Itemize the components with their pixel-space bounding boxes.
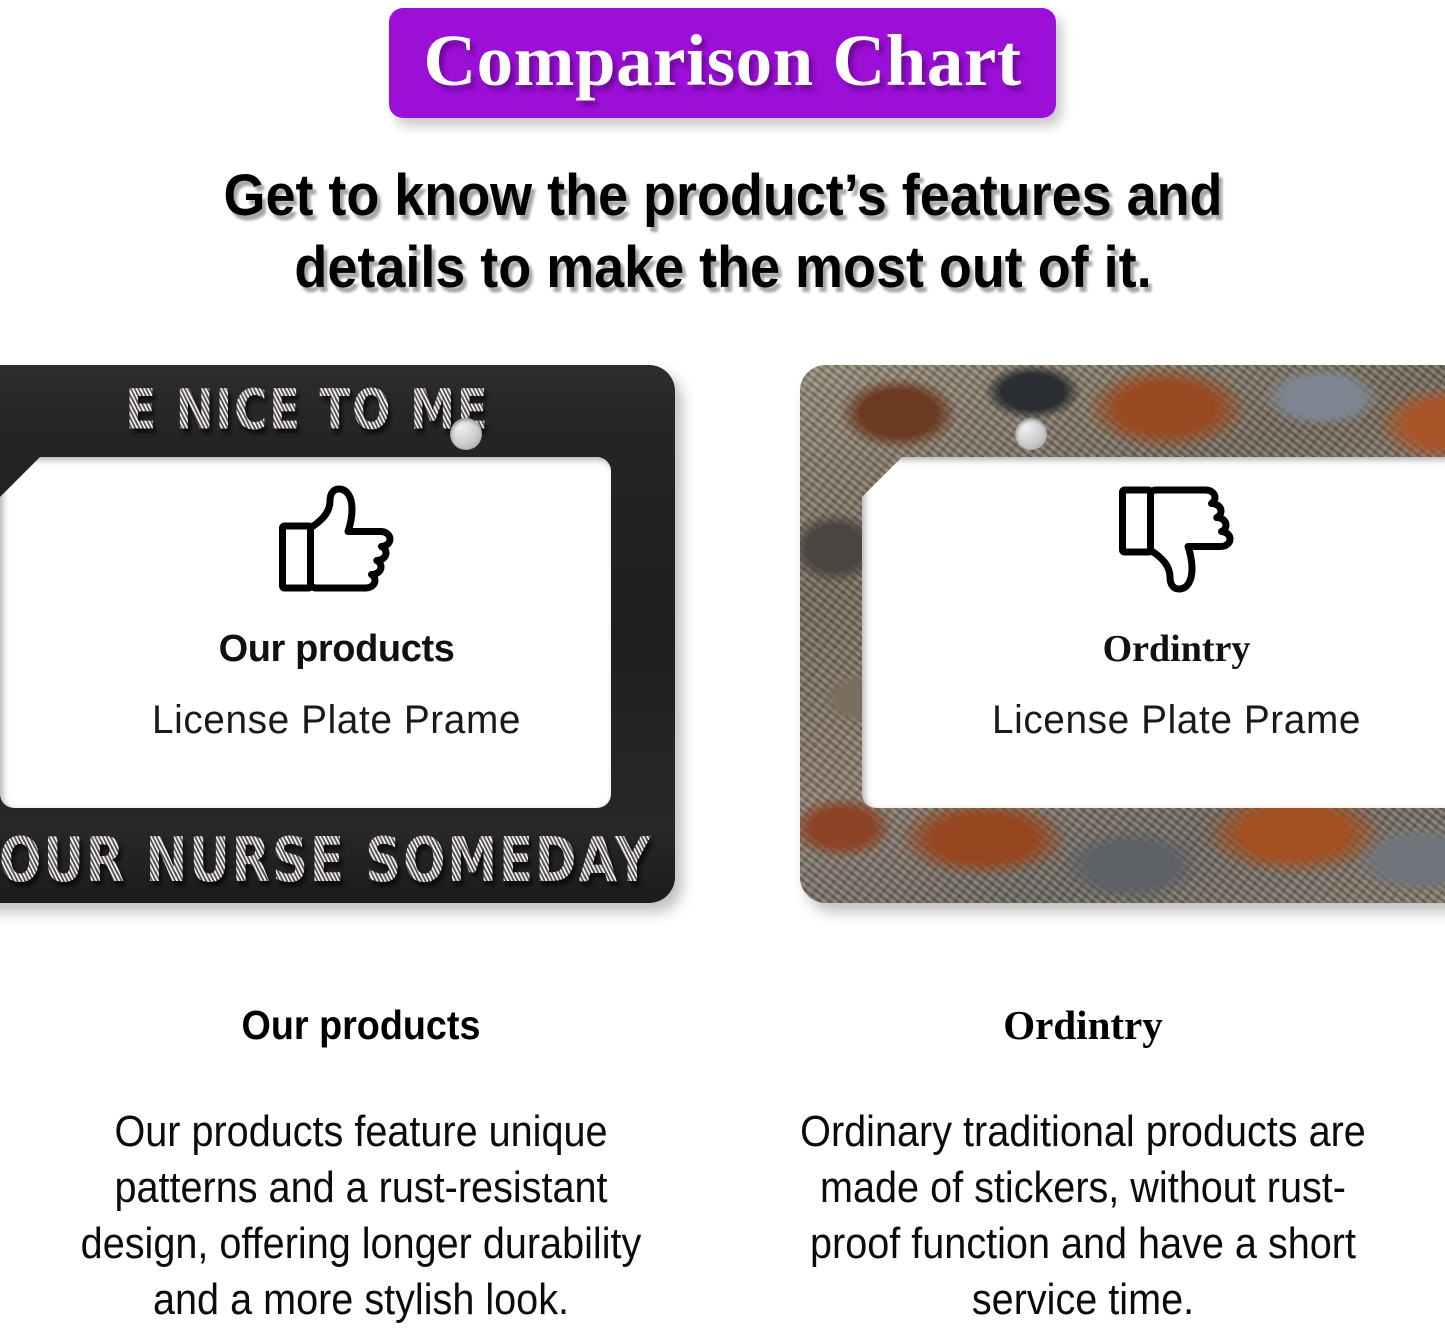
comparison-chart-banner: Comparison Chart bbox=[389, 8, 1055, 118]
description-row: Our products Our products feature unique… bbox=[0, 1000, 1445, 1328]
screw-hole-icon bbox=[450, 418, 482, 450]
our-product-license-plate-frame: E NICE TO ME YOUR NURSE SOMEDAY Our prod… bbox=[0, 365, 675, 903]
frame-slogan-top: E NICE TO ME bbox=[0, 380, 660, 441]
our-product-subtitle: License Plate Prame bbox=[8, 697, 665, 743]
ordinary-product-card-content: Ordintry License Plate Prame bbox=[800, 483, 1445, 743]
ordintry-description-body: Ordinary traditional products are made o… bbox=[778, 1104, 1388, 1328]
ordinary-product-license-plate-frame: Ordintry License Plate Prame bbox=[800, 365, 1445, 903]
our-product-title: Our products bbox=[0, 627, 675, 671]
subtitle: Get to know the product’s features and d… bbox=[141, 160, 1304, 304]
description-column-ours: Our products Our products feature unique… bbox=[0, 1000, 722, 1328]
product-comparison-row: E NICE TO ME YOUR NURSE SOMEDAY Our prod… bbox=[0, 365, 1445, 905]
subtitle-line-2: details to make the most out of it. bbox=[141, 232, 1304, 304]
ordinary-product-title: Ordintry bbox=[848, 627, 1445, 671]
ordinary-product-subtitle: License Plate Prame bbox=[858, 697, 1445, 743]
page-title: Comparison Chart bbox=[423, 17, 1021, 105]
our-products-description-heading: Our products bbox=[49, 1000, 673, 1050]
our-product-card-content: Our products License Plate Prame bbox=[0, 483, 675, 743]
description-column-ordinary: Ordintry Ordinary traditional products a… bbox=[722, 1000, 1444, 1328]
banner-container: Comparison Chart bbox=[0, 8, 1445, 118]
subtitle-line-1: Get to know the product’s features and bbox=[141, 160, 1304, 232]
thumbs-down-icon bbox=[848, 483, 1445, 595]
thumbs-up-icon bbox=[0, 483, 675, 595]
our-products-description-body: Our products feature unique patterns and… bbox=[56, 1104, 666, 1328]
frame-slogan-bottom: YOUR NURSE SOMEDAY bbox=[0, 830, 660, 891]
screw-hole-icon bbox=[1015, 418, 1047, 450]
ordintry-description-heading: Ordintry bbox=[744, 1000, 1422, 1050]
